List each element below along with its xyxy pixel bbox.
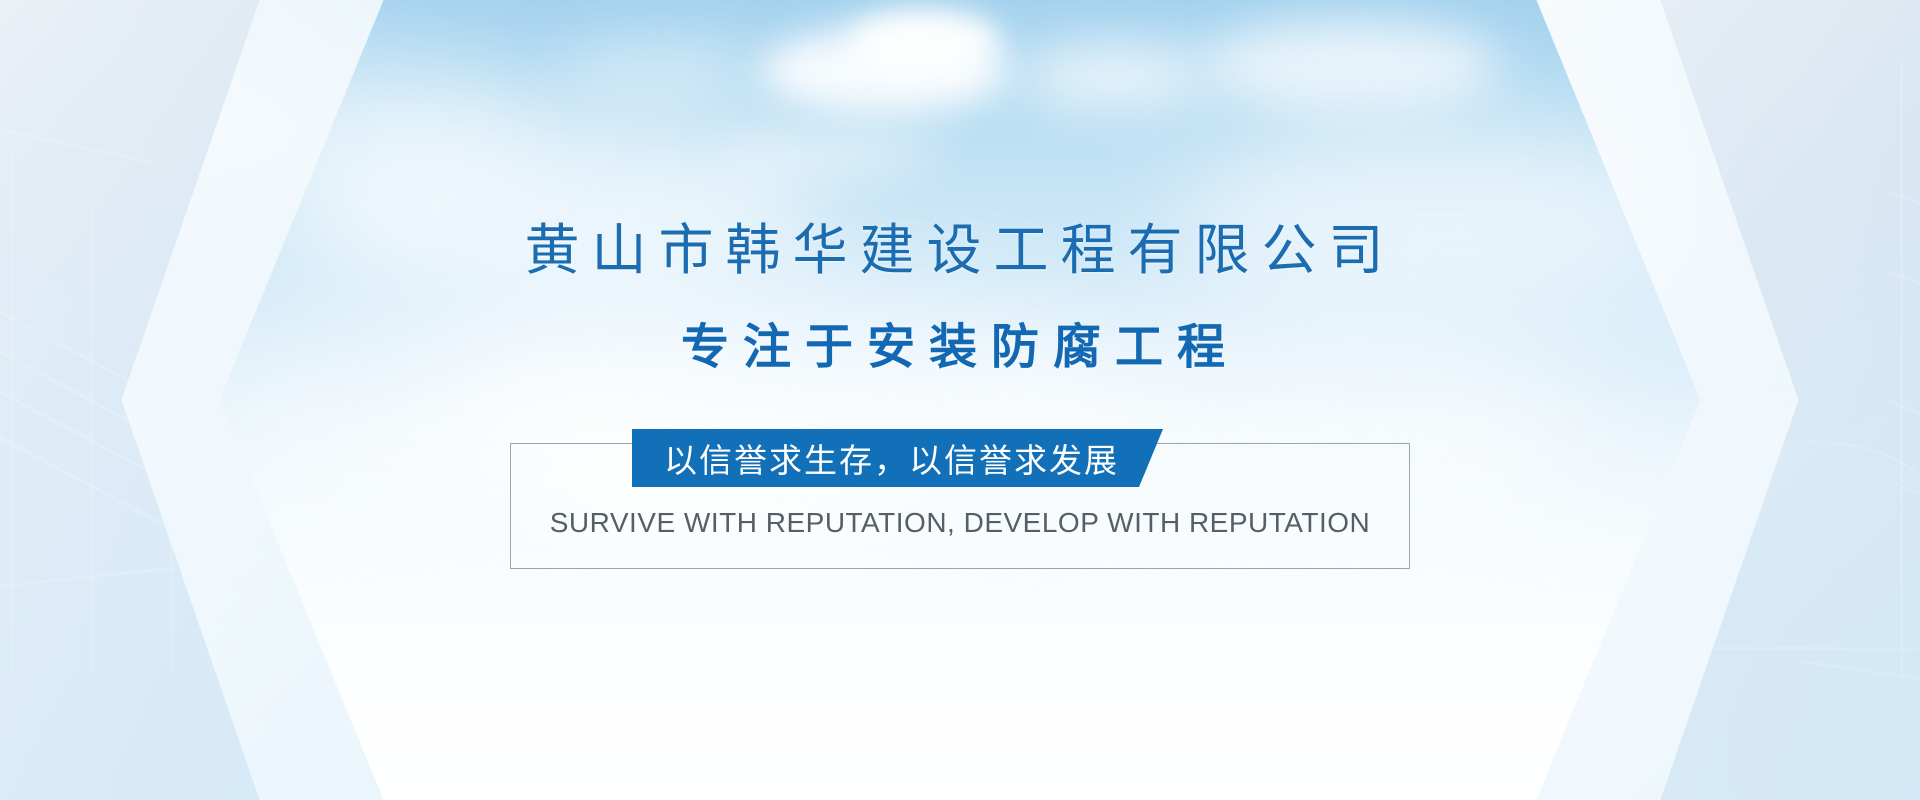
company-tagline: 专注于安装防腐工程: [681, 307, 1239, 377]
hero-banner: 黄山市韩华建设工程有限公司 专注于安装防腐工程 以信誉求生存，以信誉求发展 SU…: [0, 0, 1920, 800]
slogan-chinese-text: 以信誉求生存，以信誉求发展: [664, 434, 1119, 482]
slogan-banner-tab: 以信誉求生存，以信誉求发展: [632, 429, 1163, 487]
hero-content: 黄山市韩华建设工程有限公司 专注于安装防腐工程 以信誉求生存，以信誉求发展 SU…: [0, 0, 1920, 800]
slogan-block: 以信誉求生存，以信誉求发展 SURVIVE WITH REPUTATION, D…: [510, 429, 1410, 569]
company-name-heading: 黄山市韩华建设工程有限公司: [524, 205, 1395, 285]
slogan-english-text: SURVIVE WITH REPUTATION, DEVELOP WITH RE…: [510, 507, 1410, 539]
